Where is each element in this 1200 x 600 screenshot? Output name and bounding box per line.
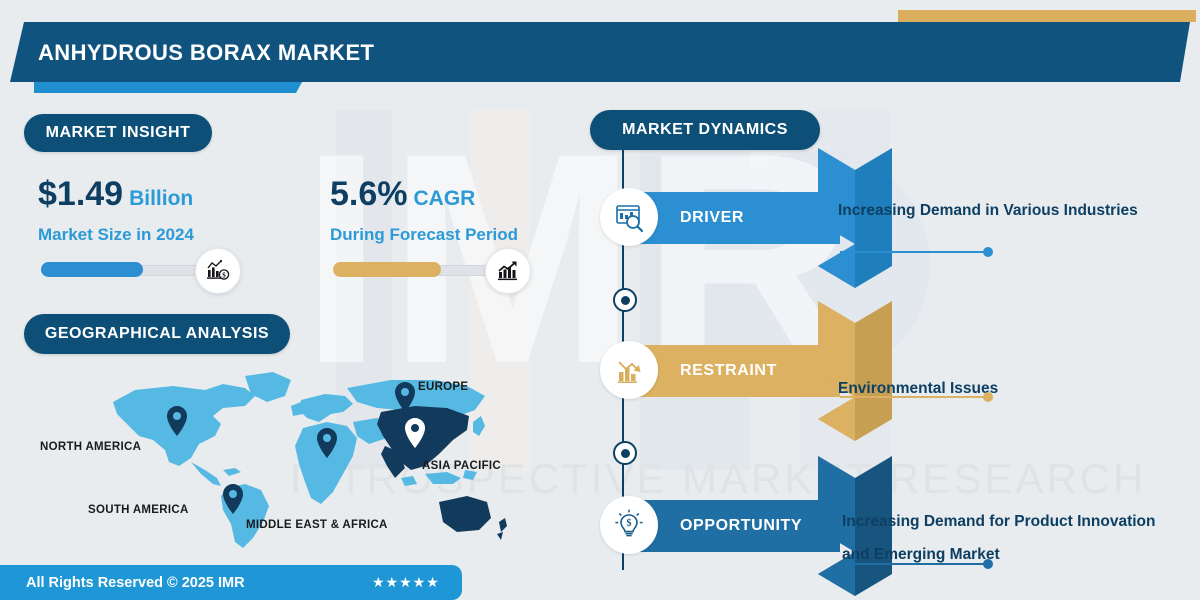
kpi-cagr-caption: During Forecast Period [330, 225, 580, 245]
infographic-canvas: IMR INTROSPECTIVE MARKET RESEARCH ANHYDR… [0, 0, 1200, 600]
market-dynamics-pill-label: MARKET DYNAMICS [622, 121, 788, 139]
geographical-analysis-pill-label: GEOGRAPHICAL ANALYSIS [45, 325, 269, 343]
kpi-cagr-value: 5.6% [330, 175, 408, 213]
market-insight-pill-label: MARKET INSIGHT [46, 124, 191, 142]
header-blue-accent [34, 82, 302, 93]
bar-chart-dollar-icon: $ [195, 248, 241, 294]
kpi-market-size-unit: Billion [129, 187, 193, 210]
market-size-progress-fill [41, 262, 143, 277]
cagr-progress-track [334, 265, 496, 276]
market-dynamics-pill: MARKET DYNAMICS [590, 110, 820, 150]
header-gold-accent [898, 10, 1196, 22]
opportunity-description: Increasing Demand for Product Innovation… [842, 505, 1172, 571]
growth-arrow-chart-icon [485, 248, 531, 294]
market-insight-pill: MARKET INSIGHT [24, 114, 212, 152]
driver-description: Increasing Demand in Various Industries [838, 194, 1168, 227]
kpi-cagr-value-row: 5.6%CAGR [330, 174, 580, 219]
svg-text:$: $ [627, 518, 632, 529]
opportunity-label: OPPORTUNITY [680, 500, 802, 552]
page-title: ANHYDROUS BORAX MARKET [38, 39, 1038, 67]
analysis-magnifier-icon [600, 188, 658, 246]
geographical-analysis-pill: GEOGRAPHICAL ANALYSIS [24, 314, 290, 354]
restraint-label: RESTRAINT [680, 345, 777, 397]
timeline-node [613, 441, 637, 465]
declining-bar-chart-icon [600, 341, 658, 399]
driver-leader-line [840, 251, 988, 253]
svg-text:$: $ [222, 271, 226, 279]
kpi-market-size: $1.49Billion Market Size in 2024 [38, 174, 278, 245]
map-label-europe: EUROPE [418, 381, 468, 393]
restraint-leader-dot [983, 392, 993, 402]
copyright-text: All Rights Reserved © 2025 IMR [26, 573, 245, 593]
rating-stars: ★★★★★ [372, 574, 440, 591]
restraint-description: Environmental Issues [838, 372, 1168, 405]
cagr-progress-fill [333, 262, 441, 277]
restraint-leader-line [840, 396, 988, 398]
kpi-market-size-value-row: $1.49Billion [38, 174, 278, 219]
kpi-cagr-unit: CAGR [414, 187, 476, 210]
driver-label: DRIVER [680, 192, 744, 244]
opportunity-leader-dot [983, 559, 993, 569]
restraint-chevron [818, 301, 892, 441]
map-label-north-america: NORTH AMERICA [40, 441, 141, 453]
kpi-cagr: 5.6%CAGR During Forecast Period [330, 174, 580, 245]
opportunity-leader-line [840, 563, 988, 565]
timeline-node [613, 288, 637, 312]
kpi-market-size-caption: Market Size in 2024 [38, 225, 278, 245]
map-label-south-america: SOUTH AMERICA [88, 504, 189, 516]
kpi-market-size-value: $1.49 [38, 175, 123, 213]
map-label-asia-pacific: ASIA PACIFIC [422, 460, 501, 472]
map-label-middle-east-africa: MIDDLE EAST & AFRICA [246, 519, 388, 531]
lightbulb-dollar-icon: $ [600, 496, 658, 554]
driver-leader-dot [983, 247, 993, 257]
market-size-progress-track [42, 265, 204, 276]
